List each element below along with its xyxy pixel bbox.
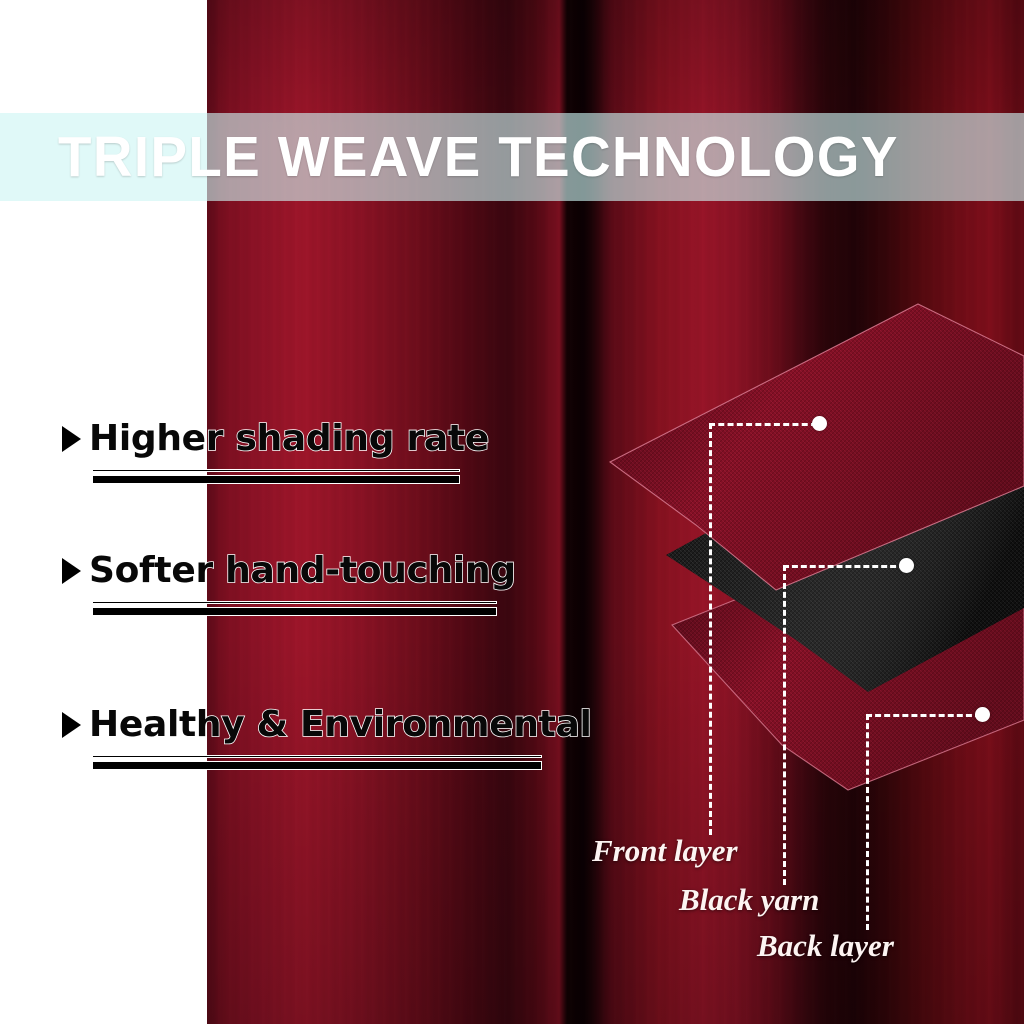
callout-label-back-layer: Back layer [757, 928, 894, 964]
feature-label: Higher shading rate [89, 420, 489, 458]
feature-heading: Higher shading rate [62, 420, 582, 458]
feature-label: Softer hand-touching [89, 552, 516, 590]
feature-item: Softer hand-touching [62, 552, 582, 615]
white-dot-marker [975, 707, 990, 722]
callout-label-black-yarn: Black yarn [679, 882, 819, 918]
feature-heading: Healthy & Environmental [62, 706, 582, 744]
layer-stack-svg [600, 290, 1024, 860]
product-feature-image: TRIPLE WEAVE TECHNOLOGY Higher shading r… [0, 0, 1024, 1024]
underline-thin [92, 601, 497, 604]
headline-banner: TRIPLE WEAVE TECHNOLOGY [0, 113, 1024, 201]
leader-segment-h [709, 423, 817, 426]
underline-thick [92, 607, 497, 616]
triangle-right-icon [62, 426, 81, 452]
leader-segment-v [866, 714, 869, 930]
underline-thick [92, 761, 542, 770]
underline-thin [92, 469, 460, 472]
headline-title: TRIPLE WEAVE TECHNOLOGY [58, 129, 899, 186]
leader-segment-h [866, 714, 981, 717]
leader-segment-h [783, 565, 905, 568]
feature-underline [62, 469, 582, 483]
callout-label-front-layer: Front layer [592, 833, 738, 869]
feature-underline [62, 755, 582, 769]
feature-label: Healthy & Environmental [89, 706, 592, 744]
triangle-right-icon [62, 712, 81, 738]
leader-segment-v [709, 423, 712, 835]
underline-thick [92, 475, 460, 484]
feature-item: Healthy & Environmental [62, 706, 582, 769]
fabric-layer-diagram [600, 290, 1024, 860]
white-dot-marker [899, 558, 914, 573]
triangle-right-icon [62, 558, 81, 584]
underline-thin [92, 755, 542, 758]
feature-heading: Softer hand-touching [62, 552, 582, 590]
leader-segment-v [783, 565, 786, 885]
feature-underline [62, 601, 582, 615]
white-dot-marker [812, 416, 827, 431]
feature-item: Higher shading rate [62, 420, 582, 483]
